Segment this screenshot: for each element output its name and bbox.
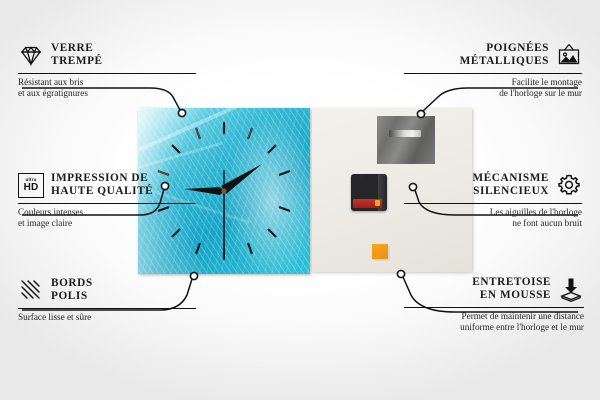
diamond-icon <box>18 42 44 68</box>
battery-terminal <box>375 200 380 206</box>
ultra-hd-icon: ultra HD <box>18 172 44 198</box>
feature-header: MÉCANISME SILENCIEUX <box>404 172 582 199</box>
feature-title: POIGNÉES MÉTALLIQUES <box>460 42 549 69</box>
polished-edges-icon <box>18 277 44 303</box>
wall-mount-frame-icon <box>556 42 582 68</box>
feature-title: IMPRESSION DE HAUTE QUALITÉ <box>51 172 153 199</box>
feature-header: ultra HD IMPRESSION DE HAUTE QUALITÉ <box>18 172 196 199</box>
feature-description: Couleurs intenses et image claire <box>18 207 196 230</box>
feature-title: ENTRETOISE EN MOUSSE <box>472 276 551 303</box>
feature-description: Surface lisse et sûre <box>18 312 196 323</box>
feature-header: ENTRETOISE EN MOUSSE <box>404 276 584 303</box>
feature-impression-haute-qualite: ultra HD IMPRESSION DE HAUTE QUALITÉ Cou… <box>18 172 196 230</box>
feature-divider <box>404 307 584 308</box>
feature-divider <box>404 203 582 204</box>
feature-header: VERRE TREMPÉ <box>18 42 196 69</box>
feature-bords-polis: BORDS POLIS Surface lisse et sûre <box>18 277 196 323</box>
battery-part <box>353 199 382 208</box>
hanger-slot <box>389 130 421 137</box>
feature-description: Résistant aux bris et aux égratignures <box>18 77 196 100</box>
foam-spacer-part <box>372 244 388 259</box>
feature-header: BORDS POLIS <box>18 277 196 304</box>
clock-movement-part <box>351 174 387 211</box>
feature-poignees-metalliques: POIGNÉES MÉTALLIQUES Facilite le montage… <box>404 42 582 100</box>
feature-verre-trempe: VERRE TREMPÉ Résistant aux bris et aux é… <box>18 42 196 100</box>
feature-header: POIGNÉES MÉTALLIQUES <box>404 42 582 69</box>
feature-divider <box>18 73 196 74</box>
ultra-hd-icon-large-text: HD <box>24 183 39 193</box>
foam-spacer-arrow-icon <box>558 276 584 302</box>
gear-icon <box>556 172 582 198</box>
feature-description: Facilite le montage de l'horloge sur le … <box>404 77 582 100</box>
feature-title: MÉCANISME SILENCIEUX <box>473 172 550 199</box>
feature-divider <box>404 73 582 74</box>
feature-title: VERRE TREMPÉ <box>51 42 103 69</box>
feature-description: Les aiguilles de l'horloge ne font aucun… <box>404 207 582 230</box>
metal-hanger-part <box>377 116 435 164</box>
feature-divider <box>18 203 196 204</box>
feature-mecanisme-silencieux: MÉCANISME SILENCIEUX Les aiguilles de l'… <box>404 172 582 230</box>
feature-divider <box>18 308 196 309</box>
infographic-canvas: VERRE TREMPÉ Résistant aux bris et aux é… <box>0 0 600 400</box>
feature-entretoise-en-mousse: ENTRETOISE EN MOUSSE Permet de maintenir… <box>404 276 584 334</box>
feature-title: BORDS POLIS <box>51 277 93 304</box>
feature-description: Permet de maintenir une distance uniform… <box>404 311 584 334</box>
movement-hanging-loop <box>361 174 378 181</box>
